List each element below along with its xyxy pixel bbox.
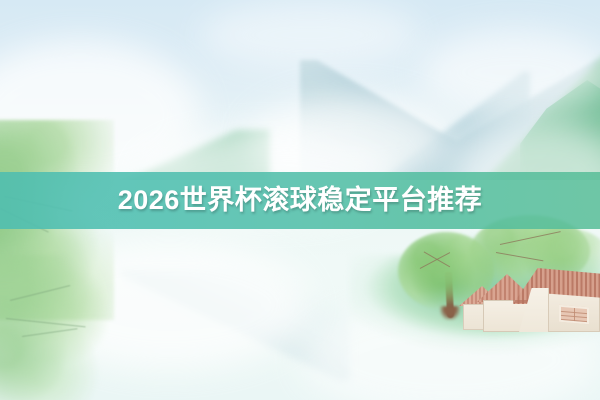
title-banner: 2026世界杯滚球稳定平台推荐 [0,172,600,229]
mist-patch [200,0,420,70]
house-window [559,305,589,325]
house [455,262,600,332]
landscape-banner-image: 2026世界杯滚球稳定平台推荐 [0,0,600,400]
mist-patch [420,30,600,115]
foliage-left-lower [0,255,120,400]
page-title: 2026世界杯滚球稳定平台推荐 [118,187,483,214]
